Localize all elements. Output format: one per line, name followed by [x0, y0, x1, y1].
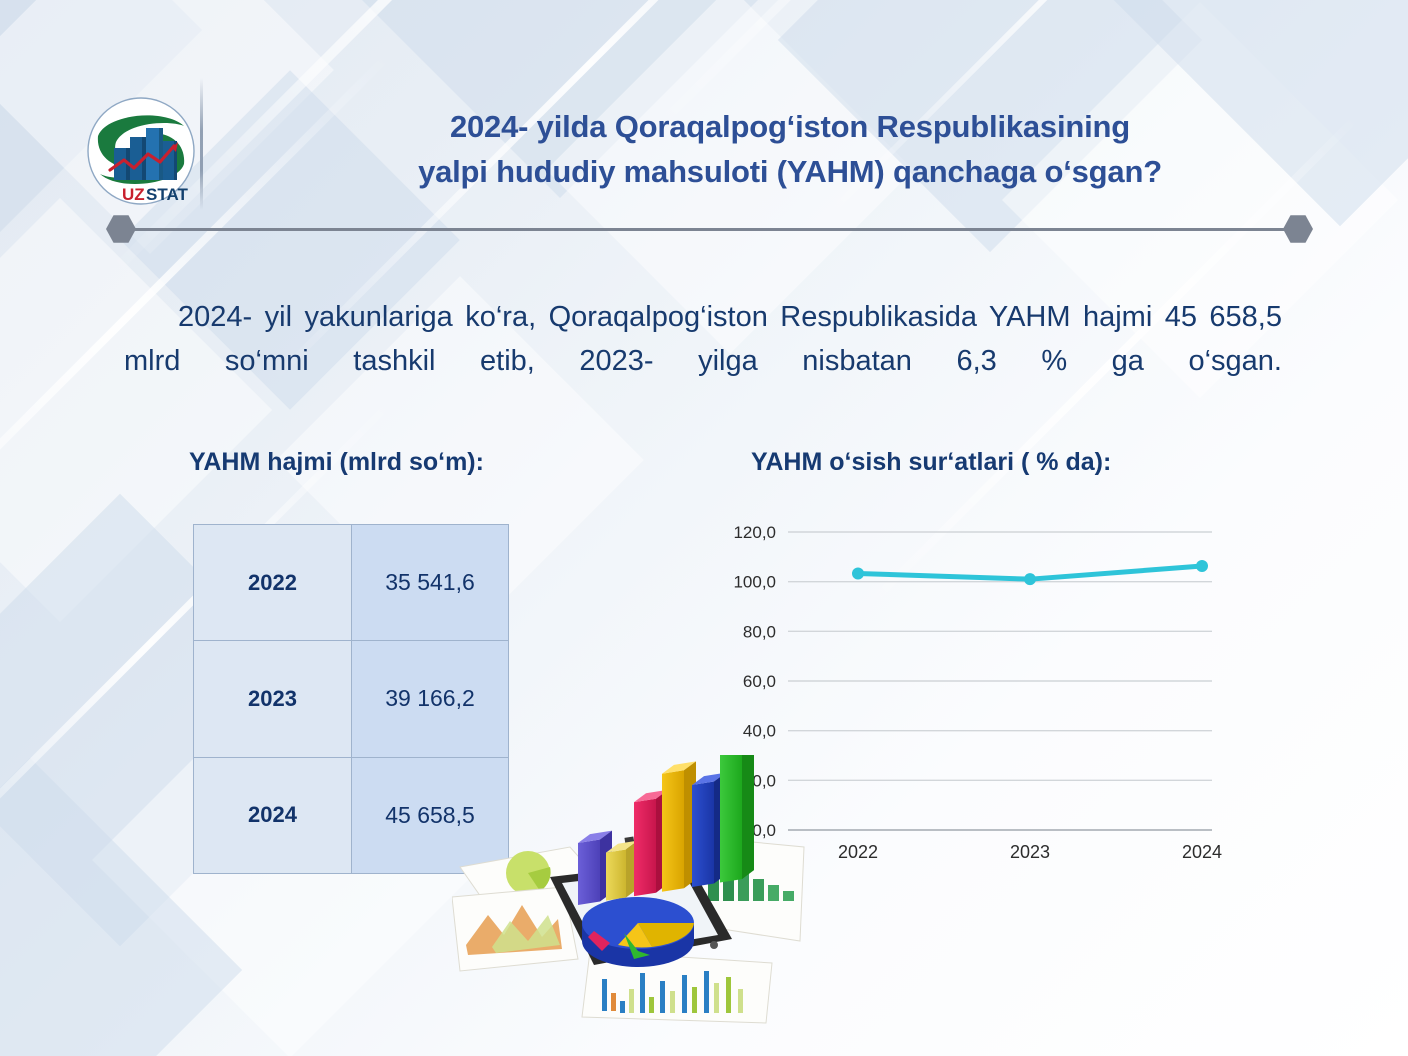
- header-vertical-divider: [200, 78, 203, 210]
- chart-data-point: [852, 567, 864, 579]
- chart-data-point: [1024, 573, 1036, 585]
- page-title-line-1: 2024- yilda Qoraqalpog‘iston Respublikas…: [230, 104, 1350, 149]
- header-divider-bar: [0, 212, 1408, 246]
- table-row: 2022 35 541,6: [194, 525, 509, 641]
- y-axis-tick-label: 120,0: [733, 523, 776, 542]
- page-title-line-2: yalpi hududiy mahsuloti (YAHM) qanchaga …: [230, 149, 1350, 194]
- table-cell-year: 2022: [194, 525, 352, 641]
- x-axis-tick-label: 2024: [1182, 842, 1222, 862]
- analytics-illustration: [452, 755, 812, 1025]
- table-section-heading: YAHM hajmi (mlrd so‘m):: [189, 448, 484, 477]
- table-cell-year: 2024: [194, 757, 352, 873]
- table-cell-year: 2023: [194, 641, 352, 757]
- svg-text:STAT: STAT: [146, 185, 188, 204]
- report-sheet-bottom-left: [452, 887, 578, 971]
- intro-paragraph: 2024- yil yakunlariga ko‘ra, Qoraqalpog‘…: [124, 295, 1282, 427]
- pie-3d-chart: [582, 897, 694, 967]
- table-cell-value: 39 166,2: [352, 641, 509, 757]
- hexagon-right-icon: [1283, 214, 1313, 244]
- chart-x-axis-labels: 202220232024: [838, 842, 1222, 862]
- divider-line: [126, 228, 1298, 231]
- y-axis-tick-label: 80,0: [743, 622, 776, 641]
- svg-text:UZ: UZ: [122, 185, 145, 204]
- x-axis-tick-label: 2022: [838, 842, 878, 862]
- chart-section-heading: YAHM o‘sish sur‘atlari ( % da):: [751, 448, 1111, 477]
- chart-data-point: [1196, 560, 1208, 572]
- page-title: 2024- yilda Qoraqalpog‘iston Respublikas…: [230, 104, 1350, 195]
- uzstat-logo: UZ STAT: [86, 96, 196, 208]
- table-cell-value: 35 541,6: [352, 525, 509, 641]
- table-row: 2023 39 166,2: [194, 641, 509, 757]
- analytics-illustration-icon: [452, 755, 812, 1025]
- header: UZ STAT 2024- yilda Qoraqalpog‘iston Res…: [0, 0, 1408, 250]
- y-axis-tick-label: 40,0: [743, 722, 776, 741]
- y-axis-tick-label: 100,0: [733, 573, 776, 592]
- hexagon-left-icon: [106, 214, 136, 244]
- y-axis-tick-label: 60,0: [743, 672, 776, 691]
- x-axis-tick-label: 2023: [1010, 842, 1050, 862]
- uzstat-logo-icon: UZ STAT: [86, 96, 196, 208]
